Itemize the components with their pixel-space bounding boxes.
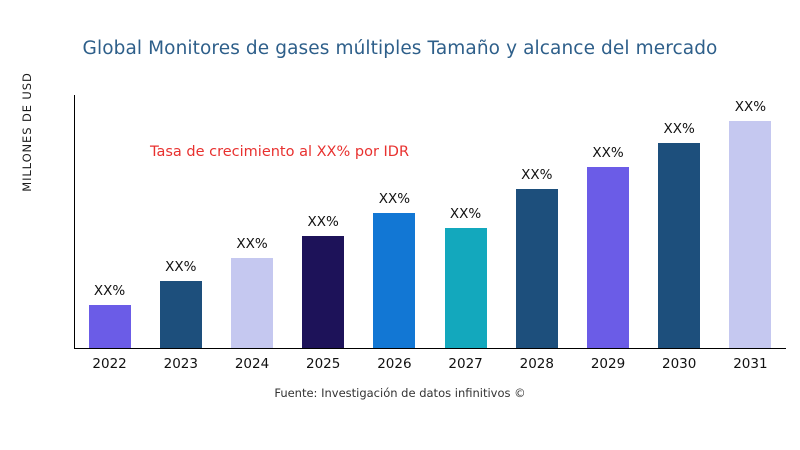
- bar-2027[interactable]: [445, 228, 487, 348]
- bar-value-label: XX%: [165, 259, 196, 275]
- bar-group: XX%: [160, 259, 202, 348]
- bar-value-label: XX%: [308, 214, 339, 230]
- bar-group: XX%: [445, 206, 487, 348]
- bar-group: XX%: [373, 191, 415, 348]
- bar-2022[interactable]: [89, 305, 131, 348]
- bar-group: XX%: [729, 99, 771, 348]
- bar-2030[interactable]: [658, 143, 700, 348]
- bar-value-label: XX%: [521, 167, 552, 183]
- bar-2024[interactable]: [231, 258, 273, 348]
- bar-2026[interactable]: [373, 213, 415, 348]
- chart-title: Global Monitores de gases múltiples Tama…: [0, 38, 800, 59]
- y-axis-label: MILLONES DE USD: [20, 22, 34, 242]
- bar-group: XX%: [231, 236, 273, 348]
- bar-2023[interactable]: [160, 281, 202, 348]
- bar-group: XX%: [658, 121, 700, 348]
- bar-2029[interactable]: [587, 167, 629, 348]
- bar-group: XX%: [587, 145, 629, 348]
- bar-2025[interactable]: [302, 236, 344, 348]
- x-axis-line: [74, 348, 786, 349]
- bar-value-label: XX%: [94, 283, 125, 299]
- source-note: Fuente: Investigación de datos infinitiv…: [0, 386, 800, 400]
- bar-value-label: XX%: [450, 206, 481, 222]
- bar-2028[interactable]: [516, 189, 558, 348]
- bar-value-label: XX%: [735, 99, 766, 115]
- bar-group: XX%: [516, 167, 558, 348]
- growth-rate-annotation: Tasa de crecimiento al XX% por IDR: [150, 144, 409, 160]
- bar-group: XX%: [302, 214, 344, 348]
- x-tick-label-2031: 2031: [705, 356, 795, 372]
- bar-2031[interactable]: [729, 121, 771, 348]
- bar-group: XX%: [89, 283, 131, 348]
- plot-area: XX%XX%XX%XX%XX%XX%XX%XX%XX%XX%: [74, 95, 786, 348]
- chart-container: Global Monitores de gases múltiples Tama…: [0, 0, 800, 450]
- bar-value-label: XX%: [236, 236, 267, 252]
- bar-value-label: XX%: [592, 145, 623, 161]
- bar-value-label: XX%: [379, 191, 410, 207]
- bar-value-label: XX%: [664, 121, 695, 137]
